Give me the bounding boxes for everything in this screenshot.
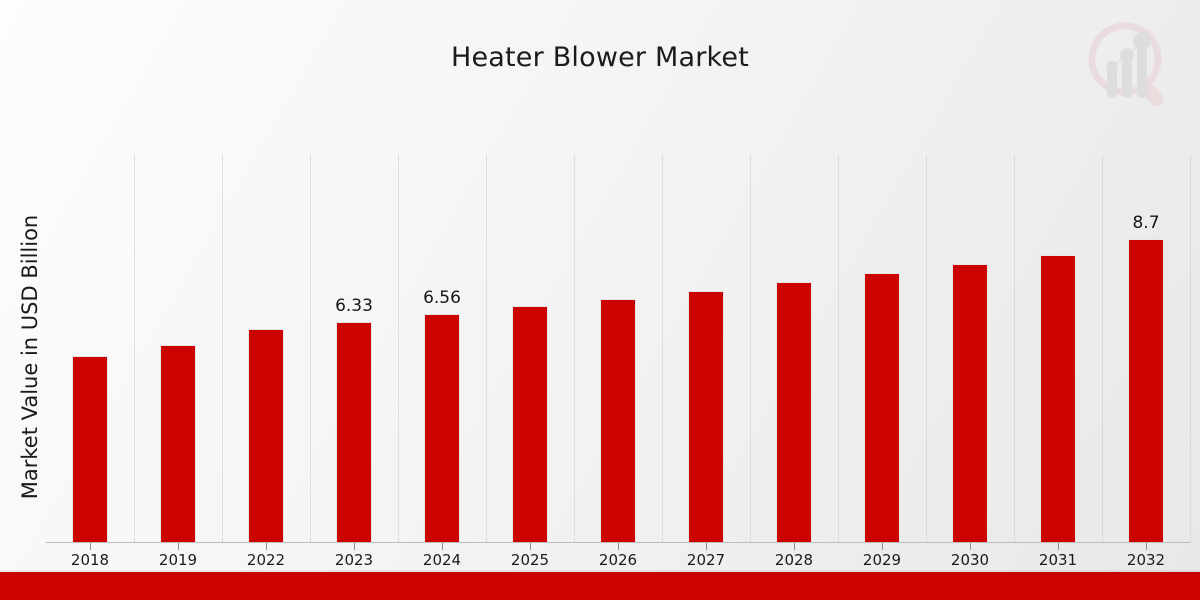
x-tick-label-2025: 2025 — [511, 551, 549, 569]
bar-2032[interactable] — [1128, 239, 1164, 542]
gridline — [486, 155, 488, 542]
bar-2018[interactable] — [72, 356, 108, 542]
x-tick-mark — [266, 543, 267, 550]
bar-2024[interactable] — [424, 314, 460, 542]
x-tick-label-2026: 2026 — [599, 551, 637, 569]
page-title: Heater Blower Market — [0, 42, 1200, 73]
x-tick-mark — [706, 543, 707, 550]
gridline — [222, 155, 224, 542]
x-tick-label-2029: 2029 — [863, 551, 901, 569]
x-tick-label-2018: 2018 — [71, 551, 109, 569]
x-tick-label-2022: 2022 — [247, 551, 285, 569]
gridline — [750, 155, 752, 542]
bar-2029[interactable] — [864, 273, 900, 542]
gridline — [134, 155, 136, 542]
gridline — [310, 155, 312, 542]
gridline — [838, 155, 840, 542]
bar-2030[interactable] — [952, 264, 988, 542]
x-tick-mark — [970, 543, 971, 550]
bar-value-label-2032: 8.7 — [1132, 213, 1159, 233]
x-tick-label-2027: 2027 — [687, 551, 725, 569]
x-tick-label-2031: 2031 — [1039, 551, 1077, 569]
plot-area — [46, 152, 1190, 542]
gridline — [1190, 155, 1192, 542]
bar-2027[interactable] — [688, 291, 724, 542]
x-tick-label-2019: 2019 — [159, 551, 197, 569]
x-tick-mark — [882, 543, 883, 550]
x-tick-label-2028: 2028 — [775, 551, 813, 569]
x-tick-mark — [530, 543, 531, 550]
x-tick-mark — [442, 543, 443, 550]
bar-2031[interactable] — [1040, 255, 1076, 542]
x-tick-label-2023: 2023 — [335, 551, 373, 569]
x-tick-mark — [178, 543, 179, 550]
gridline — [1102, 155, 1104, 542]
bar-value-label-2023: 6.33 — [335, 296, 373, 316]
x-tick-mark — [794, 543, 795, 550]
market-research-magnifier-logo — [1078, 14, 1182, 118]
x-tick-mark — [1058, 543, 1059, 550]
gridline — [574, 155, 576, 542]
bar-2022[interactable] — [248, 329, 284, 542]
x-tick-mark — [618, 543, 619, 550]
x-tick-label-2030: 2030 — [951, 551, 989, 569]
gridline — [398, 155, 400, 542]
bar-2023[interactable] — [336, 322, 372, 542]
bar-2028[interactable] — [776, 282, 812, 542]
bar-value-label-2024: 6.56 — [423, 288, 461, 308]
gridline — [662, 155, 664, 542]
y-axis-title: Market Value in USD Billion — [18, 97, 42, 600]
bar-2019[interactable] — [160, 345, 196, 542]
x-tick-mark — [90, 543, 91, 550]
gridline — [1014, 155, 1016, 542]
x-tick-mark — [354, 543, 355, 550]
x-tick-mark — [1146, 543, 1147, 550]
x-tick-label-2024: 2024 — [423, 551, 461, 569]
bar-2026[interactable] — [600, 299, 636, 542]
gridline — [926, 155, 928, 542]
x-tick-label-2032: 2032 — [1127, 551, 1165, 569]
footer-accent-bar — [0, 572, 1200, 600]
chart-canvas: Heater Blower Market Market Value in USD… — [0, 0, 1200, 600]
bar-2025[interactable] — [512, 306, 548, 542]
